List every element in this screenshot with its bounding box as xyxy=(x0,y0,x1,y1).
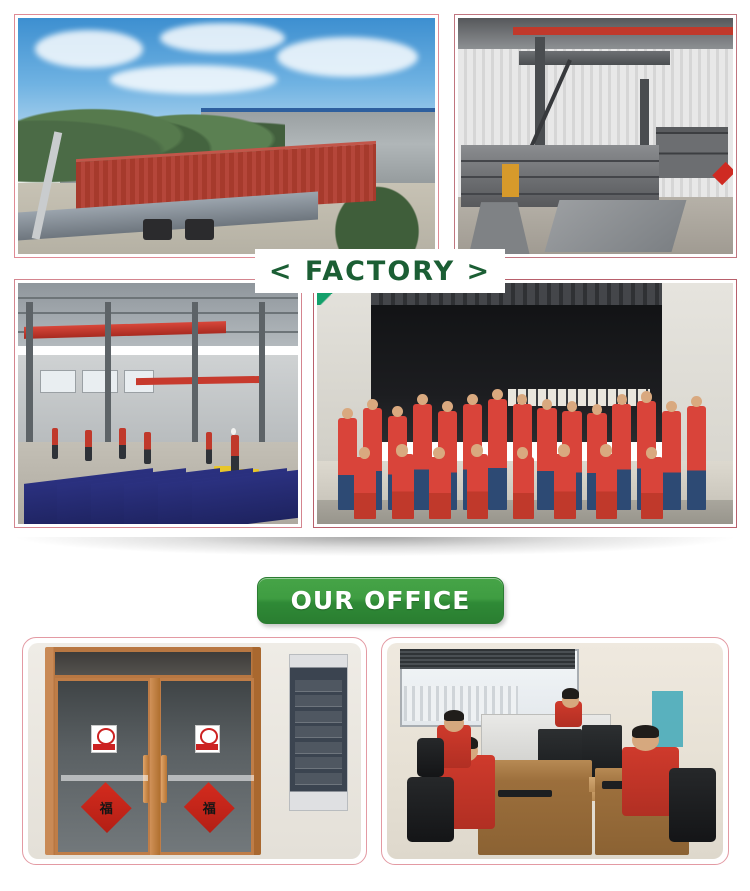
photo-office-entrance-doors: 福 福 xyxy=(22,637,367,865)
directory-row xyxy=(295,680,343,692)
head xyxy=(396,444,408,456)
office-banner-label: OUR OFFICE xyxy=(291,586,471,615)
window-blind xyxy=(400,649,575,668)
office-chair-left xyxy=(407,777,454,842)
no-smoking-bar xyxy=(93,744,114,751)
cloud-1 xyxy=(35,30,143,68)
photo-factory-exterior-content xyxy=(18,18,435,254)
photo-office-interior-content xyxy=(387,643,723,859)
hair xyxy=(444,710,464,721)
head xyxy=(542,399,553,410)
directory-row xyxy=(295,742,343,754)
directory-row xyxy=(295,711,343,723)
head xyxy=(558,444,570,456)
head xyxy=(467,394,478,405)
door-mullion xyxy=(150,678,161,855)
office-directory-sign xyxy=(289,654,348,812)
door-transom xyxy=(55,652,251,676)
trailer-wheel-2 xyxy=(185,219,214,240)
head xyxy=(517,447,529,459)
crane-rail xyxy=(513,27,733,34)
photo-office-interior xyxy=(381,637,729,865)
pallet-jack xyxy=(502,164,519,197)
section-divider-shadow xyxy=(0,537,750,561)
cloud-2 xyxy=(160,23,285,54)
head xyxy=(367,399,378,410)
head xyxy=(359,447,371,459)
team-member-seated xyxy=(467,454,489,519)
photo-workshop-steel-content xyxy=(458,18,733,254)
no-smoking-sign-right xyxy=(195,725,220,753)
showcase-page: < FACTORY > OUR OFFICE 福 xyxy=(0,0,750,891)
team-member-seated xyxy=(354,457,376,520)
steel-plate xyxy=(544,200,685,252)
stack-line-2 xyxy=(461,176,659,178)
photo-factory-exterior xyxy=(14,14,439,258)
worker-2 xyxy=(85,430,92,461)
no-smoking-bar xyxy=(196,744,217,751)
team-member-seated xyxy=(392,454,414,519)
worker-3 xyxy=(119,428,126,459)
team-member-standing xyxy=(687,406,706,510)
hair xyxy=(562,688,579,699)
factory-banner-label: < FACTORY > xyxy=(269,256,491,287)
head xyxy=(433,447,445,459)
truss-1 xyxy=(18,297,298,299)
office-section-banner: OUR OFFICE xyxy=(257,577,504,624)
wall-window-1 xyxy=(40,370,76,394)
team-member-seated xyxy=(429,457,451,520)
team-member-seated xyxy=(596,454,618,519)
head xyxy=(392,406,403,417)
head xyxy=(442,401,453,412)
team-member-seated xyxy=(554,454,576,519)
team-member-seated xyxy=(641,457,663,520)
directory-row xyxy=(295,695,343,707)
fu-character: 福 xyxy=(203,798,216,817)
photo-office-door-content: 福 福 xyxy=(28,643,361,859)
head xyxy=(492,389,503,400)
photo-workshop-steel-fabrication xyxy=(454,14,737,258)
head xyxy=(592,404,603,415)
head xyxy=(471,444,483,456)
factory-section-banner: < FACTORY > xyxy=(255,249,505,293)
stack-line-3 xyxy=(461,193,659,195)
head xyxy=(417,394,428,405)
fu-character: 福 xyxy=(100,798,113,817)
frosted-band-left xyxy=(61,775,148,781)
hair xyxy=(632,725,659,738)
cloud-3 xyxy=(277,37,419,77)
desk-left xyxy=(478,760,592,855)
directory-row xyxy=(295,757,343,769)
head xyxy=(641,391,652,402)
trailer-wheel-1 xyxy=(143,219,172,240)
office-chair-back xyxy=(417,738,444,777)
worker-5 xyxy=(206,432,213,463)
head xyxy=(600,444,612,456)
office-chair-right xyxy=(669,768,716,841)
frosted-band-right xyxy=(168,775,255,781)
directory-row xyxy=(295,726,343,738)
wall-window-2 xyxy=(82,370,118,394)
team-member-standing xyxy=(662,411,681,510)
door-handle-right xyxy=(161,755,166,803)
keyboard-left xyxy=(498,790,552,798)
stack-line-1 xyxy=(461,160,659,162)
team-member-seated xyxy=(513,457,535,520)
photo-team-content xyxy=(317,283,733,524)
directory-row xyxy=(295,773,343,785)
worker-6 xyxy=(231,435,239,474)
photo-team-group xyxy=(313,279,737,528)
head xyxy=(646,447,658,459)
no-smoking-sign-left xyxy=(91,725,116,753)
head xyxy=(617,394,628,405)
worker-1 xyxy=(52,428,59,459)
photo-workshop-blue-beams xyxy=(14,279,302,528)
worker-4 xyxy=(144,432,151,463)
photo-workshop-beams-content xyxy=(18,283,298,524)
team-member-standing xyxy=(488,399,507,510)
truss-2 xyxy=(18,312,298,314)
